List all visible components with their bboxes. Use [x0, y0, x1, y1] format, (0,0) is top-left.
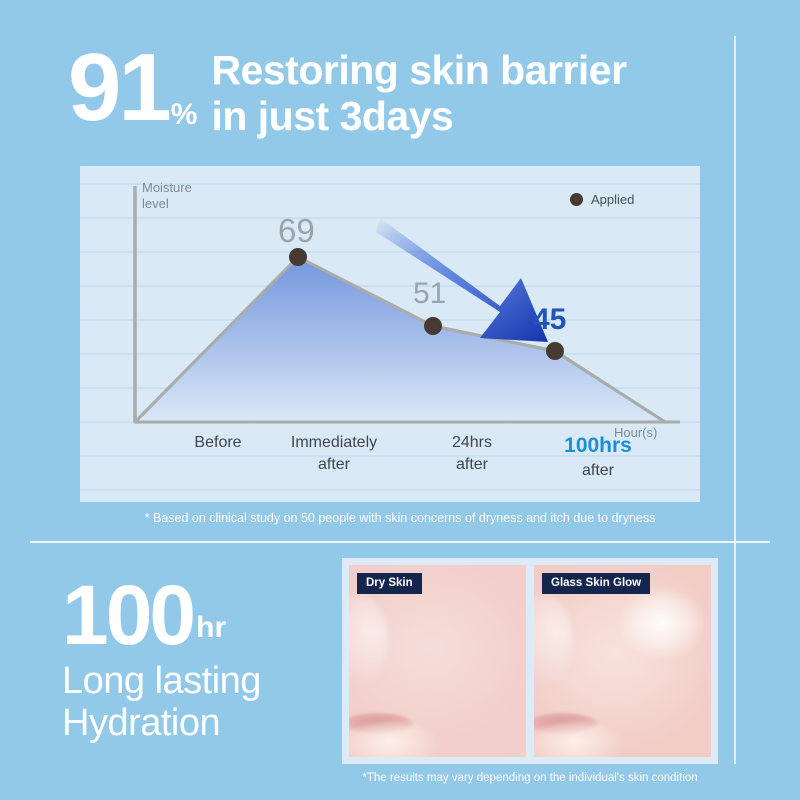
infographic-root: 91 % Restoring skin barrier in just 3day…: [0, 0, 800, 800]
value-label-45: 45: [533, 303, 566, 337]
nose-shading: [534, 596, 573, 684]
x-axis-categories: Before Immediately after 24hrs after 100…: [80, 432, 700, 488]
x-category-immediately-after-line-2: after: [254, 454, 414, 476]
hydration-subtitle: Long lasting Hydration: [62, 660, 342, 745]
hydration-block: 100 hr Long lasting Hydration: [62, 578, 342, 745]
horizontal-divider: [30, 541, 770, 543]
photo-badge-dry-skin: Dry Skin: [357, 573, 422, 594]
y-axis-label-line-2: level: [142, 196, 192, 212]
percent-sign: %: [171, 98, 198, 132]
x-category-24hrs-after-line-1: 24hrs: [452, 434, 492, 451]
x-category-24hrs-after-line-2: after: [412, 454, 532, 476]
header-block: 91 % Restoring skin barrier in just 3day…: [68, 44, 728, 140]
stat-91: 91: [68, 44, 169, 132]
data-point-immediately: [289, 248, 307, 266]
y-axis-label: Moisture level: [142, 180, 192, 213]
x-category-24hrs-after: 24hrs after: [412, 432, 532, 475]
x-category-100hrs-after: 100hrs after: [538, 432, 658, 482]
hydration-subtitle-line-2: Hydration: [62, 702, 342, 745]
photo-badge-glass-skin-glow: Glass Skin Glow: [542, 573, 650, 594]
value-label-69: 69: [278, 212, 315, 250]
x-category-100hrs-after-line-1: 100hrs: [564, 434, 632, 457]
x-category-before-line-1: Before: [194, 434, 241, 451]
chin-shading: [534, 722, 626, 757]
y-axis-label-line-1: Moisture: [142, 180, 192, 196]
chin-shading: [349, 722, 441, 757]
chart-footnote: * Based on clinical study on 50 people w…: [0, 511, 800, 525]
photo-dry-skin: Dry Skin: [349, 565, 526, 757]
headline: Restoring skin barrier in just 3days: [211, 48, 626, 140]
headline-line-2: in just 3days: [211, 94, 626, 140]
photo-footnote: *The results may vary depending on the i…: [330, 772, 730, 784]
nose-shading: [349, 596, 388, 684]
hydration-subtitle-line-1: Long lasting: [62, 660, 342, 703]
photo-glass-skin-glow: Glass Skin Glow: [534, 565, 711, 757]
x-category-immediately-after: Immediately after: [254, 432, 414, 475]
vertical-divider: [734, 36, 736, 764]
legend-label-applied: Applied: [591, 192, 634, 207]
data-point-24hrs: [424, 317, 442, 335]
chart-legend: Applied: [570, 192, 634, 207]
x-category-immediately-after-line-1: Immediately: [291, 434, 377, 451]
headline-line-1: Restoring skin barrier: [211, 48, 626, 94]
x-category-100hrs-after-line-2: after: [538, 460, 658, 482]
legend-dot-icon: [570, 193, 583, 206]
stat-100-unit: hr: [196, 611, 226, 645]
comparison-photo-panel: Dry Skin Glass Skin Glow: [342, 558, 718, 764]
data-point-100hrs: [546, 342, 564, 360]
value-label-51: 51: [413, 277, 446, 311]
stat-100: 100: [62, 578, 193, 654]
